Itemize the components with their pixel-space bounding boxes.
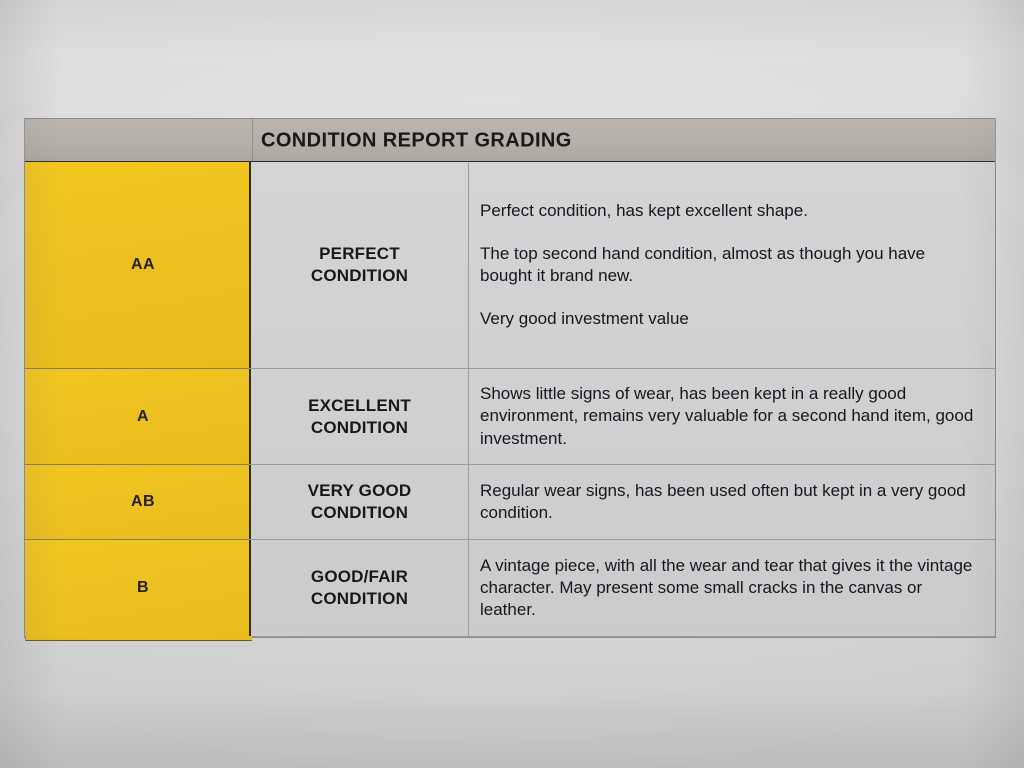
description-paragraph: The top second hand condition, almost as… xyxy=(480,243,981,287)
description-paragraph: Regular wear signs, has been used often … xyxy=(480,480,981,524)
condition-name-cell: EXCELLENT CONDITION xyxy=(251,369,469,464)
description-cell: A vintage piece, with all the wear and t… xyxy=(469,540,995,636)
grade-label: AA xyxy=(131,256,155,274)
condition-name-line-2: CONDITION xyxy=(311,503,408,522)
condition-name-line-1: EXCELLENT xyxy=(308,396,411,415)
condition-report-grading-table: CONDITION REPORT GRADING AA PERFECT COND… xyxy=(24,118,996,638)
grade-cell: B xyxy=(25,540,251,636)
description-cell: Regular wear signs, has been used often … xyxy=(469,465,995,539)
condition-name-label: GOOD/FAIR CONDITION xyxy=(311,566,408,610)
description-paragraph: A vintage piece, with all the wear and t… xyxy=(480,555,981,621)
condition-name-cell: PERFECT CONDITION xyxy=(251,162,469,368)
condition-name-cell: GOOD/FAIR CONDITION xyxy=(251,540,469,636)
condition-name-label: VERY GOOD CONDITION xyxy=(308,480,412,524)
grade-cell: AB xyxy=(25,465,251,539)
grade-column-footer xyxy=(25,636,252,641)
description-cell: Shows little signs of wear, has been kep… xyxy=(469,369,995,464)
table-title: CONDITION REPORT GRADING xyxy=(261,129,572,152)
grade-label: B xyxy=(137,579,149,597)
description-paragraph: Shows little signs of wear, has been kep… xyxy=(480,383,981,449)
grade-label: A xyxy=(137,408,149,426)
table-row: AA PERFECT CONDITION Perfect condition, … xyxy=(25,162,995,369)
condition-name-label: PERFECT CONDITION xyxy=(311,243,408,287)
condition-name-line-2: CONDITION xyxy=(311,589,408,608)
condition-name-line-1: VERY GOOD xyxy=(308,481,412,500)
grade-cell: A xyxy=(25,369,251,464)
grade-label: AB xyxy=(131,493,155,511)
table-row: AB VERY GOOD CONDITION Regular wear sign… xyxy=(25,465,995,540)
condition-name-line-1: PERFECT xyxy=(319,244,400,263)
table-row: B GOOD/FAIR CONDITION A vintage piece, w… xyxy=(25,540,995,637)
description-paragraph: Very good investment value xyxy=(480,308,981,330)
condition-name-label: EXCELLENT CONDITION xyxy=(308,395,411,439)
grade-cell: AA xyxy=(25,162,251,368)
condition-name-line-1: GOOD/FAIR xyxy=(311,567,408,586)
condition-name-line-2: CONDITION xyxy=(311,266,408,285)
description-cell: Perfect condition, has kept excellent sh… xyxy=(469,162,995,368)
condition-name-line-2: CONDITION xyxy=(311,418,408,437)
header-column-divider xyxy=(252,119,253,162)
table-body: AA PERFECT CONDITION Perfect condition, … xyxy=(24,162,996,638)
table-row: A EXCELLENT CONDITION Shows little signs… xyxy=(25,369,995,465)
description-paragraph: Perfect condition, has kept excellent sh… xyxy=(480,200,981,222)
condition-name-cell: VERY GOOD CONDITION xyxy=(251,465,469,539)
table-header-band: CONDITION REPORT GRADING xyxy=(24,118,996,162)
